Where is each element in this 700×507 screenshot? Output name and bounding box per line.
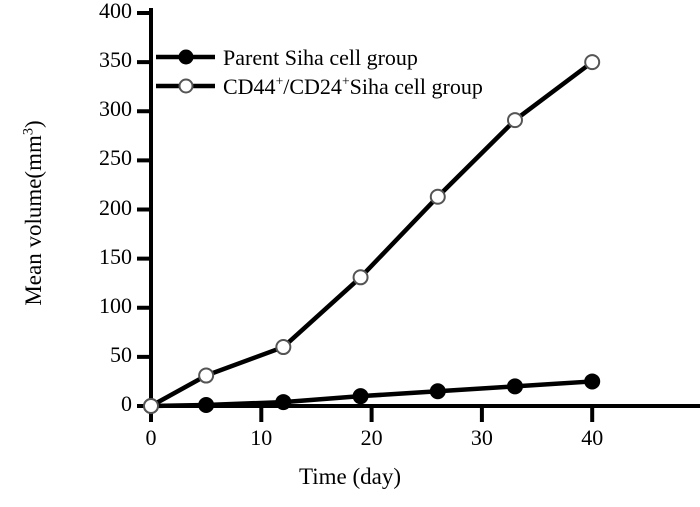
data-point: [276, 395, 290, 409]
legend-label-cd44-cd24-siha: CD44+/CD24+Siha cell group: [223, 74, 483, 100]
x-tick-label: 10: [221, 425, 301, 451]
data-point: [354, 389, 368, 403]
legend-marker-group: [156, 51, 215, 93]
legend-marker-cd44-cd24-siha: [156, 80, 215, 93]
series-cd44-cd24-siha: [144, 55, 599, 413]
legend-label-sup-2: +: [342, 74, 350, 89]
chart-figure: Parent Siha cell group CD44+/CD24+Siha c…: [0, 0, 700, 502]
data-point: [144, 399, 158, 413]
legend-label-part-cd44: CD44: [223, 74, 276, 99]
legend-label-parent-siha: Parent Siha cell group: [223, 45, 418, 71]
y-axis-title-superscript: 3: [20, 128, 36, 135]
data-point: [431, 384, 445, 398]
y-tick-label: 100: [40, 293, 132, 319]
data-point: [508, 379, 522, 393]
y-tick-label: 250: [40, 145, 132, 171]
y-tick-label: 350: [40, 47, 132, 73]
data-point: [508, 113, 522, 127]
y-tick-label: 0: [40, 391, 132, 417]
legend-marker-parent-siha: [156, 51, 215, 64]
data-point: [585, 55, 599, 69]
x-tick-label: 40: [552, 425, 632, 451]
y-tick-label: 300: [40, 96, 132, 122]
data-point: [199, 398, 213, 412]
y-tick-label: 400: [40, 0, 132, 24]
data-point: [585, 374, 599, 388]
y-axis-ticks: [137, 13, 151, 406]
data-series-layer: [144, 55, 599, 413]
data-point: [431, 190, 445, 204]
legend-label-part-cd24: /CD24: [283, 74, 342, 99]
y-tick-label: 50: [40, 342, 132, 368]
x-tick-label: 30: [442, 425, 522, 451]
x-axis-title: Time (day): [0, 464, 700, 490]
x-tick-label: 20: [332, 425, 412, 451]
data-point: [199, 369, 213, 383]
data-point: [354, 270, 368, 284]
y-tick-label: 200: [40, 195, 132, 221]
y-tick-label: 150: [40, 244, 132, 270]
legend-label-part-siha: Siha cell group: [350, 74, 483, 99]
x-axis-ticks: [151, 406, 592, 422]
x-tick-label: 0: [111, 425, 191, 451]
data-point: [276, 340, 290, 354]
